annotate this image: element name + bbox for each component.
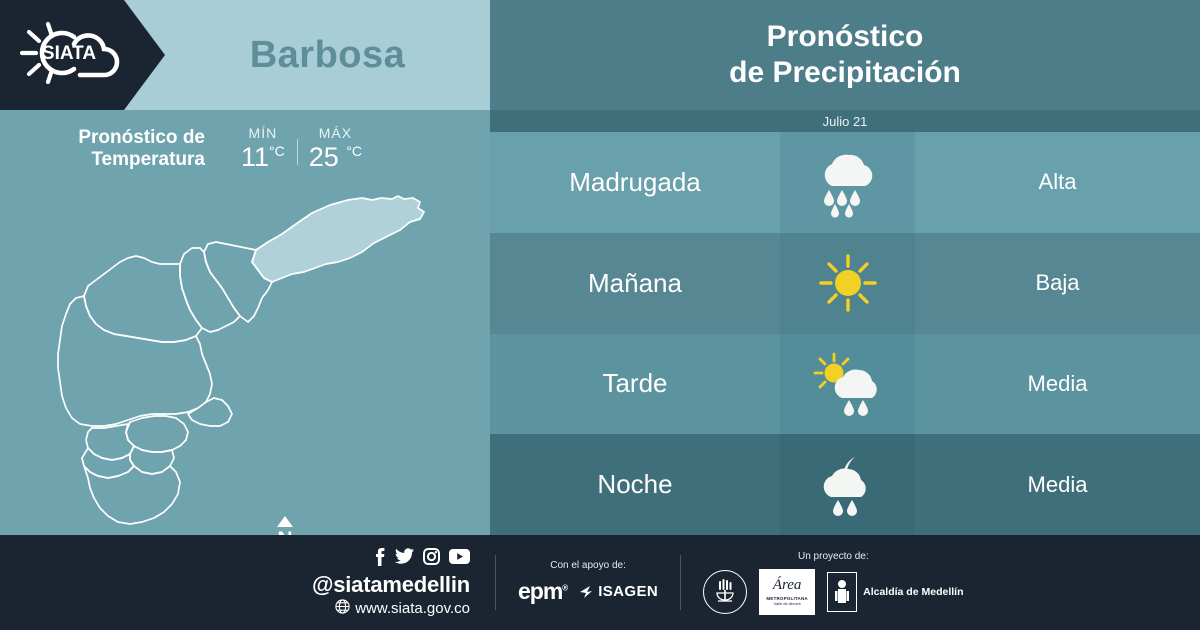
siata-logo-banner: SIATA: [0, 0, 165, 110]
temperature-min-unit: °C: [269, 143, 285, 159]
forecast-probability: Media: [915, 434, 1200, 535]
facebook-icon[interactable]: [372, 548, 386, 571]
siata-logo-text: SIATA: [42, 43, 96, 64]
temperature-max-value: 25 °C: [309, 142, 362, 173]
city-title: Barbosa: [165, 0, 490, 110]
youtube-icon[interactable]: [449, 549, 470, 569]
left-header: SIATA Barbosa: [0, 0, 490, 110]
isagen-logo: ISAGEN: [579, 583, 658, 600]
instagram-icon[interactable]: [423, 548, 440, 570]
precipitation-title-line1: Pronóstico: [729, 19, 961, 55]
map-municipality-east-edge: [188, 398, 232, 426]
support-block: Con el apoyo de: epm® ISAGEN: [496, 535, 680, 630]
globe-icon: [335, 599, 350, 618]
forecast-period: Mañana: [490, 233, 780, 334]
support-logos: epm® ISAGEN: [518, 578, 658, 605]
compass-arrow-icon: [277, 516, 293, 527]
forecast-probability: Media: [915, 334, 1200, 435]
right-panel: Pronóstico de Precipitación Julio 21 Mad…: [490, 0, 1200, 535]
udea-seal-icon: [703, 570, 747, 614]
temperature-max-label: MÁX: [309, 125, 362, 141]
sun-icon: [780, 233, 915, 334]
forecast-rows: Madrugada Alta: [490, 132, 1200, 535]
epm-logo: epm®: [518, 578, 567, 605]
temperature-min-label: MÍN: [241, 125, 285, 141]
footer: @siatamedellin www.siata.gov.co Con el a…: [0, 535, 1200, 630]
project-logos: Área METROPOLITANA Valle de Aburrá Alcal…: [703, 569, 963, 615]
area-sub2: Valle de Aburrá: [774, 601, 801, 606]
map-municipality-copacabana: [180, 248, 240, 332]
project-block: Un proyecto de:: [681, 535, 985, 630]
website-url: www.siata.gov.co: [355, 600, 470, 617]
infographic-canvas: SIATA Barbosa Pronóstico de Temperatura …: [0, 0, 1200, 630]
precipitation-header: Pronóstico de Precipitación: [490, 0, 1200, 110]
social-icons: [372, 548, 470, 571]
precipitation-title: Pronóstico de Precipitación: [729, 19, 961, 91]
table-row: Noche Media: [490, 434, 1200, 535]
temperature-max: MÁX 25 °C: [297, 125, 374, 173]
temperature-title: Pronóstico de Temperatura: [0, 127, 215, 172]
project-caption: Un proyecto de:: [798, 551, 869, 562]
sun-rain-cloud-icon: [780, 334, 915, 435]
forecast-probability: Alta: [915, 132, 1200, 233]
table-row: Mañana: [490, 233, 1200, 334]
social-handle[interactable]: @siatamedellin: [312, 572, 470, 598]
temperature-summary: Pronóstico de Temperatura MÍN 11°C MÁX 2…: [0, 110, 490, 188]
map-municipality-medellin: [58, 296, 212, 426]
map-municipality-itagui: [86, 424, 134, 460]
twitter-icon[interactable]: [395, 548, 414, 570]
forecast-period: Tarde: [490, 334, 780, 435]
area-metropolitana-logo: Área METROPOLITANA Valle de Aburrá: [759, 569, 815, 615]
table-row: Madrugada Alta: [490, 132, 1200, 233]
forecast-period: Madrugada: [490, 132, 780, 233]
sun-cloud-icon: SIATA: [12, 17, 124, 94]
website-line[interactable]: www.siata.gov.co: [335, 599, 470, 618]
table-row: Tarde: [490, 334, 1200, 435]
map-municipality-sabaneta: [130, 446, 174, 474]
map-municipality-caldas: [84, 466, 180, 524]
temperature-title-line1: Pronóstico de: [0, 127, 205, 149]
forecast-period: Noche: [490, 434, 780, 535]
rain-cloud-icon: [780, 132, 915, 233]
temperature-min: MÍN 11°C: [229, 125, 297, 173]
forecast-date-band: Julio 21: [490, 110, 1200, 132]
temperature-title-line2: Temperatura: [0, 149, 205, 171]
map-municipality-barbosa: [252, 196, 424, 282]
aburra-valley-map: N: [0, 186, 490, 535]
moon-rain-cloud-icon: [780, 434, 915, 535]
temperature-max-unit: °C: [346, 143, 362, 159]
area-script: Área: [773, 578, 802, 593]
support-caption: Con el apoyo de:: [550, 560, 626, 571]
temperature-min-value: 11°C: [241, 142, 285, 173]
precipitation-title-line2: de Precipitación: [729, 55, 961, 91]
alcaldia-logo: Alcaldía de Medellín: [827, 572, 963, 612]
alcaldia-label: Alcaldía de Medellín: [863, 586, 963, 598]
alcaldia-crest-icon: [827, 572, 857, 612]
forecast-probability: Baja: [915, 233, 1200, 334]
forecast-date: Julio 21: [823, 114, 868, 129]
left-panel: SIATA Barbosa Pronóstico de Temperatura …: [0, 0, 490, 535]
social-block: @siatamedellin www.siata.gov.co: [0, 535, 495, 630]
